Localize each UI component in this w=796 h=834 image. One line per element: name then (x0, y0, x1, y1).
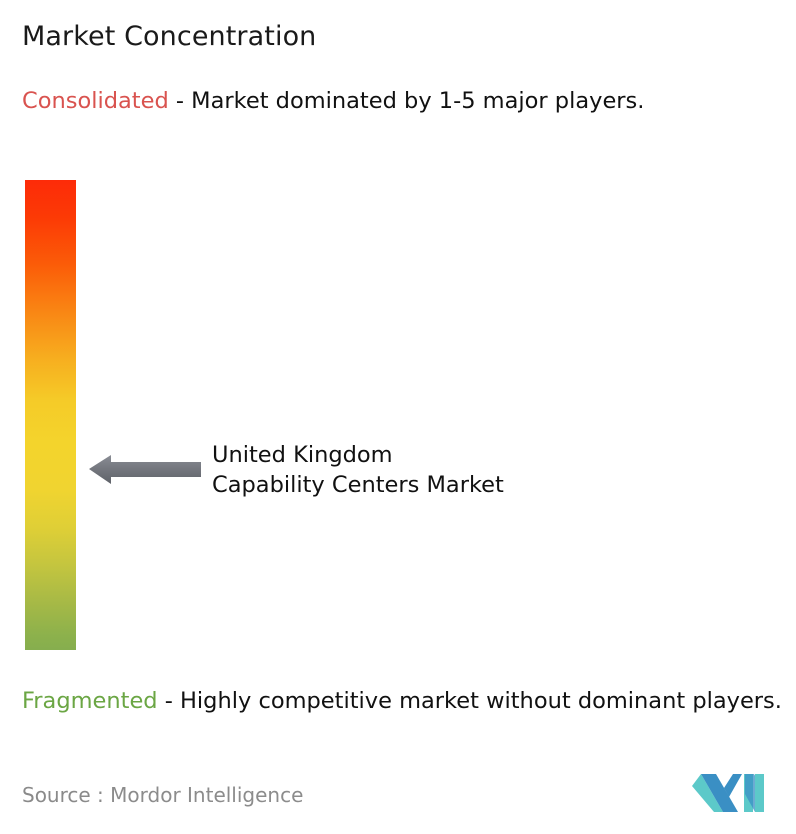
callout-label: United Kingdom Capability Centers Market (212, 440, 504, 500)
mordor-intelligence-logo-icon (692, 770, 764, 816)
source-name: Mordor Intelligence (110, 783, 303, 807)
callout-label-line1: United Kingdom (212, 440, 504, 470)
legend-fragmented-description: - Highly competitive market without domi… (158, 688, 782, 714)
callout-left-arrow-icon (89, 452, 201, 486)
legend-consolidated: Consolidated - Market dominated by 1-5 m… (22, 86, 782, 117)
callout-label-line2: Capability Centers Market (212, 470, 504, 500)
legend-fragmented: Fragmented - Highly competitive market w… (22, 686, 790, 717)
legend-consolidated-term: Consolidated (22, 88, 169, 114)
page-title: Market Concentration (22, 20, 316, 54)
market-concentration-gradient-bar (25, 180, 76, 650)
source-label: Source : (22, 783, 104, 807)
source-line: Source : Mordor Intelligence (22, 782, 303, 808)
legend-consolidated-description: - Market dominated by 1-5 major players. (169, 88, 645, 114)
legend-fragmented-term: Fragmented (22, 688, 158, 714)
